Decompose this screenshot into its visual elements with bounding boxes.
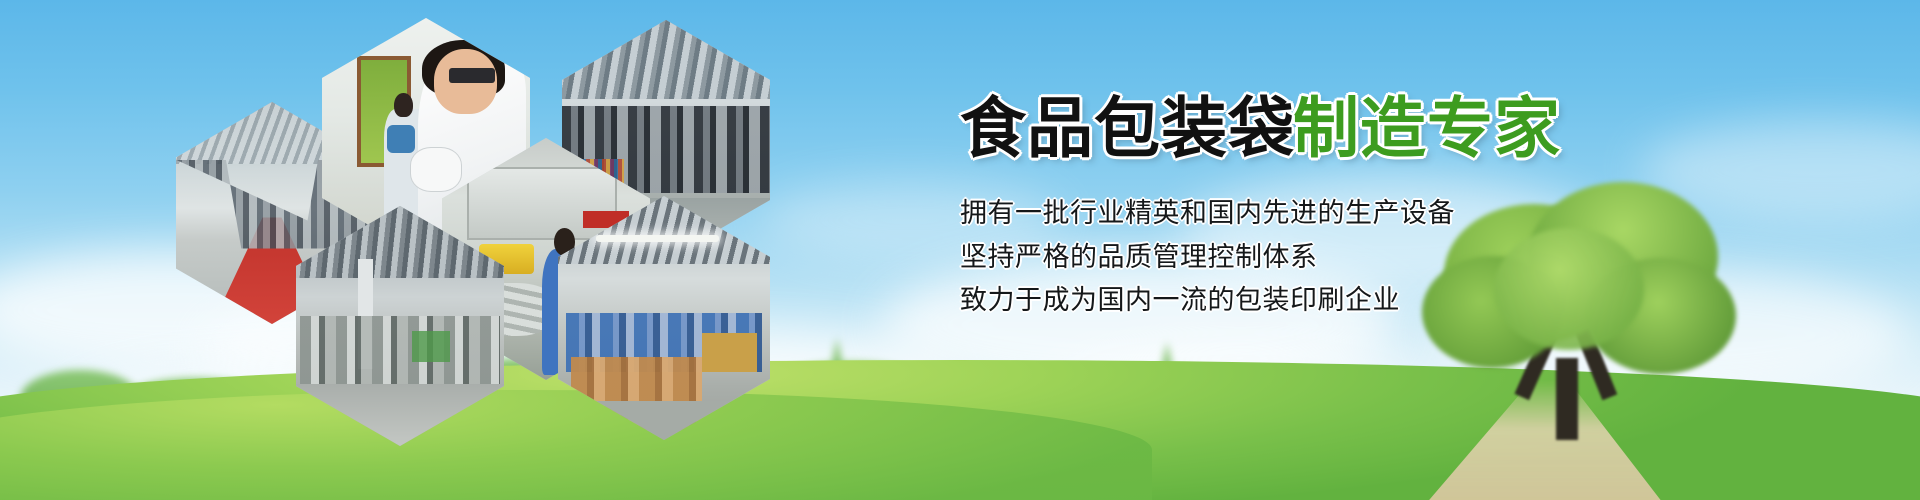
subtitle-list: 拥有一批行业精英和国内先进的生产设备 坚持严格的品质管理控制体系 致力于成为国内…	[960, 192, 1660, 323]
promo-banner: 食品包装袋 制造专家 拥有一批行业精英和国内先进的生产设备 坚持严格的品质管理控…	[0, 0, 1920, 500]
headline-accent: 制造专家	[1293, 96, 1561, 162]
subtitle-line-2: 坚持严格的品质管理控制体系	[960, 236, 1660, 280]
headline-primary: 食品包装袋	[960, 96, 1295, 162]
page-title: 食品包装袋 制造专家	[960, 96, 1660, 162]
subtitle-line-3: 致力于成为国内一流的包装印刷企业	[960, 279, 1660, 323]
subtitle-line-1: 拥有一批行业精英和国内先进的生产设备	[960, 192, 1660, 236]
banner-text-block: 食品包装袋 制造专家 拥有一批行业精英和国内先进的生产设备 坚持严格的品质管理控…	[960, 96, 1660, 323]
hexagon-photo-cluster	[150, 8, 960, 428]
